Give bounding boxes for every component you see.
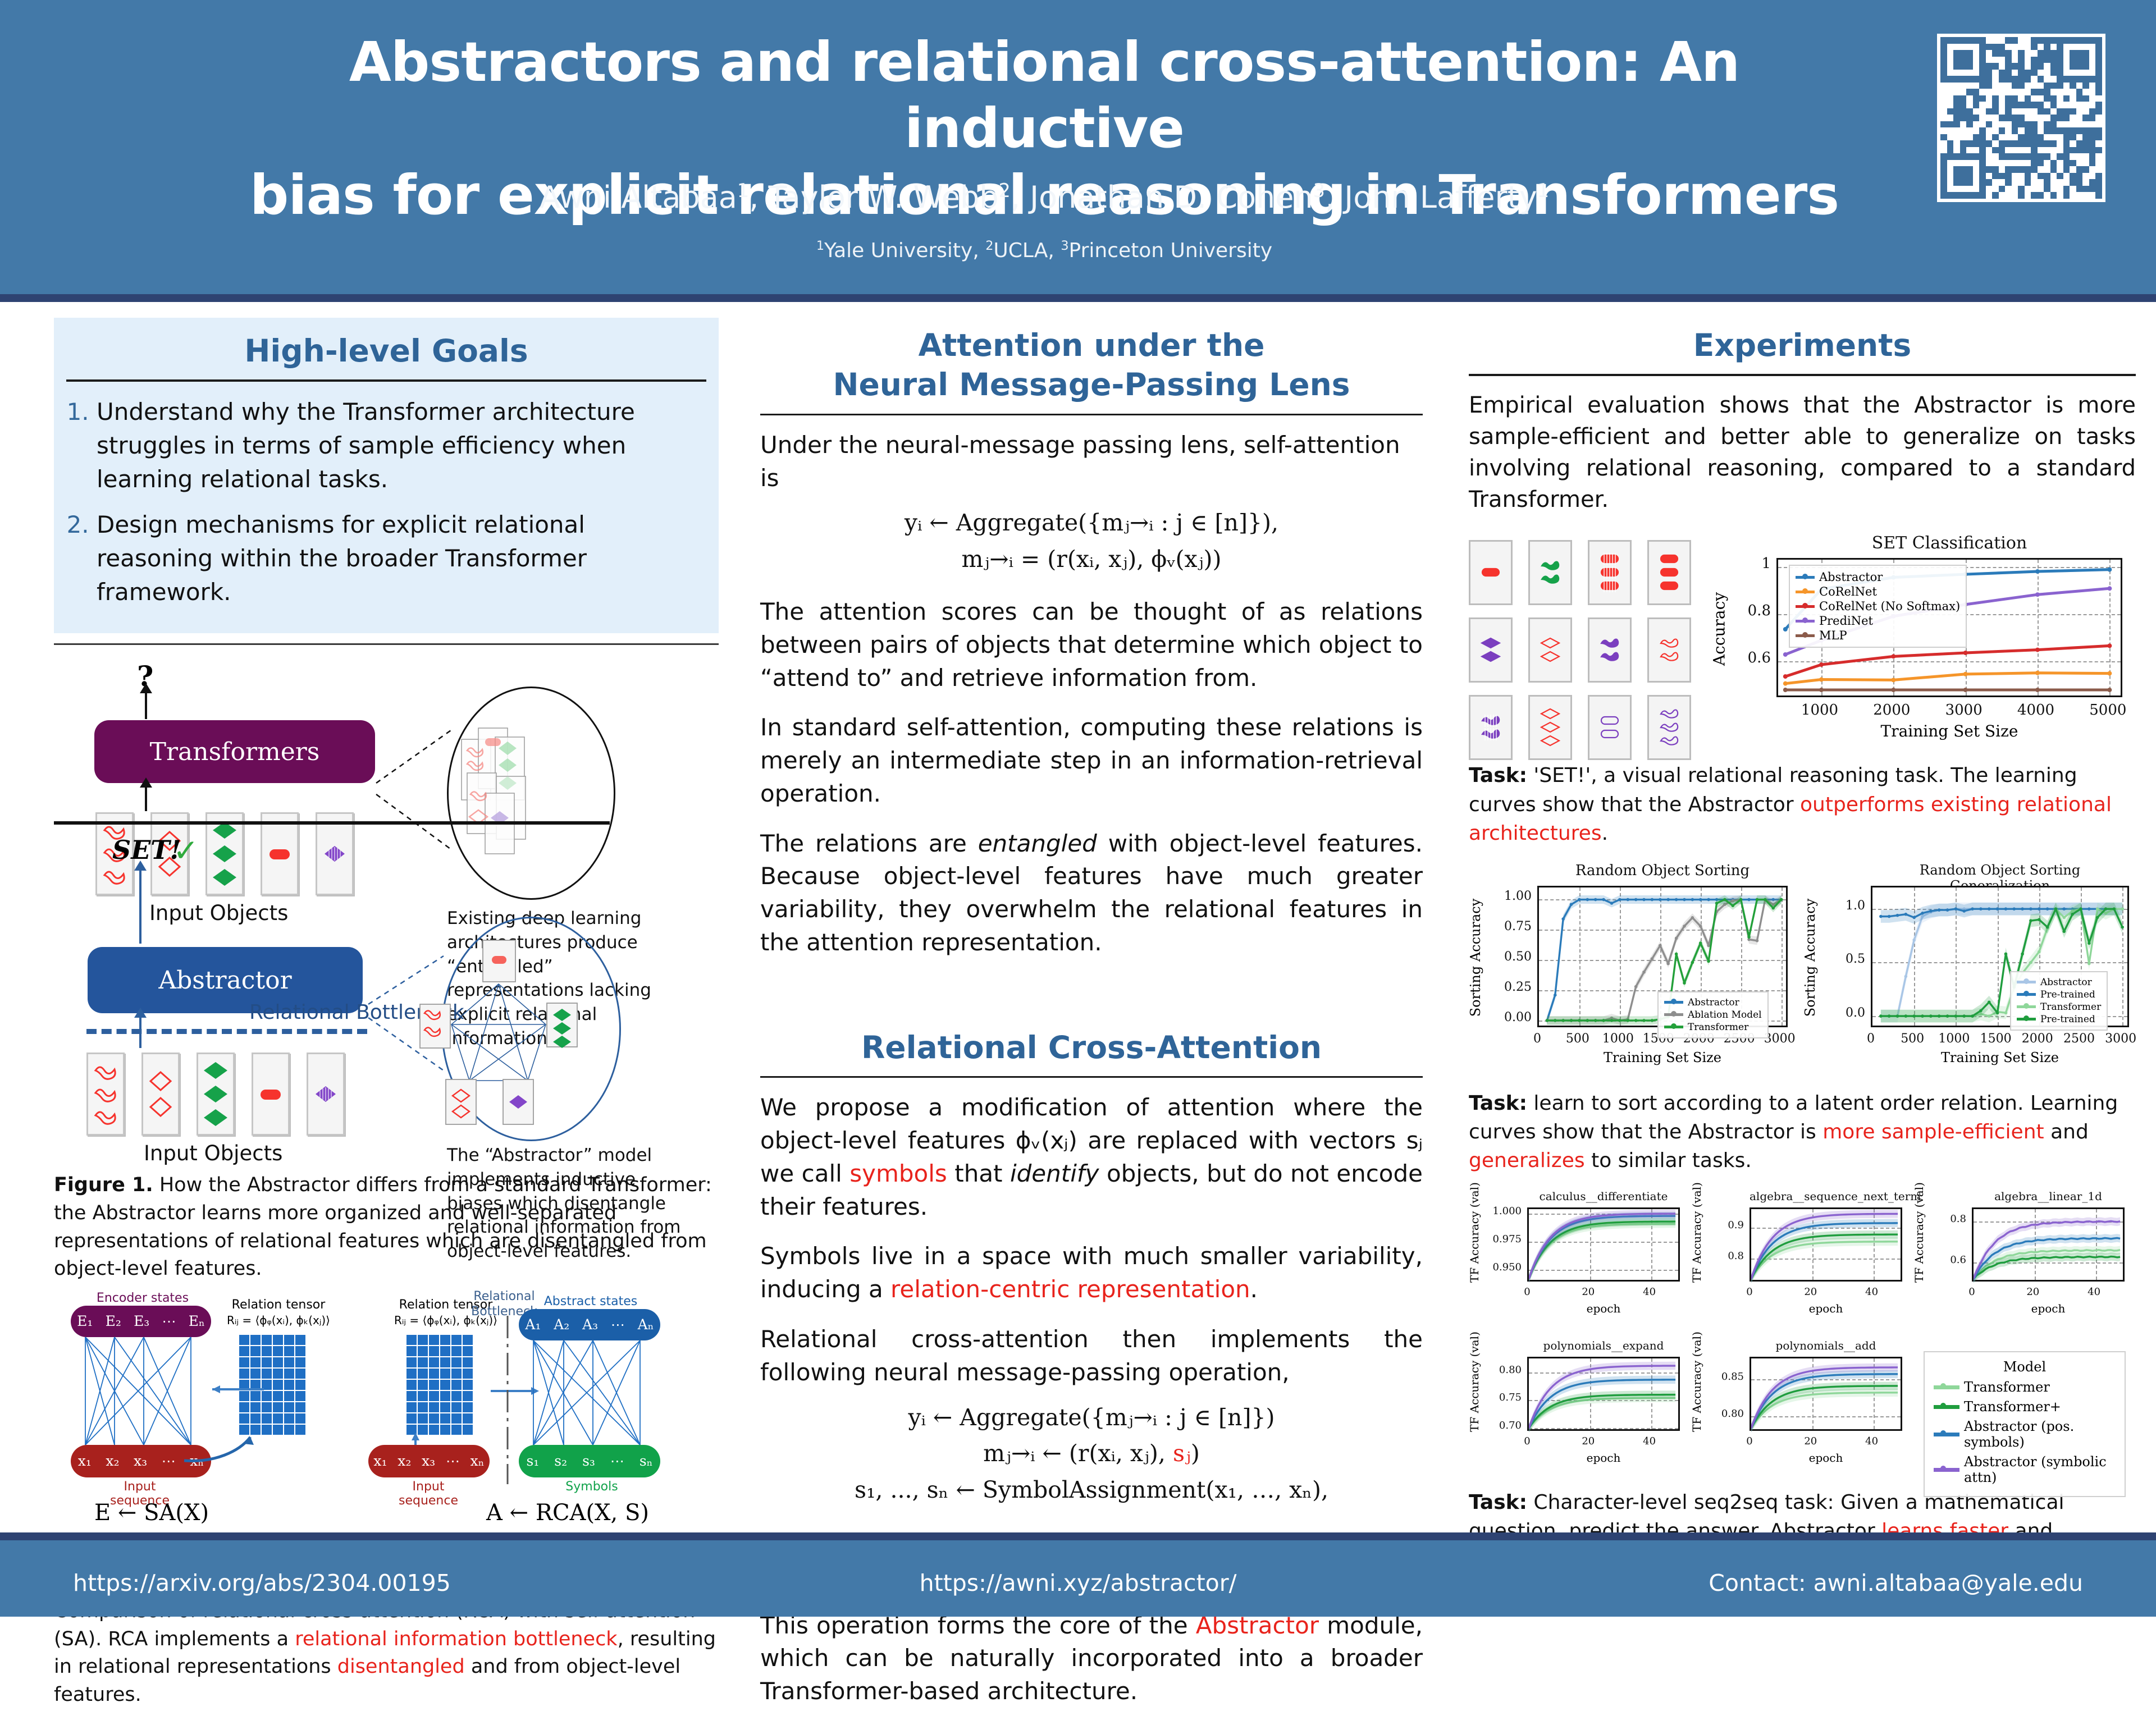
node-label: ⋯ [611,1316,625,1333]
legend-label: Transformer [1688,1022,1748,1033]
y-axis-label: TF Accuracy (val) [1912,1209,1926,1283]
x-axis-tick: 20 [1788,1435,1833,1447]
encoder-states-pill: E₁ E₂ E₃ ⋯ Eₙ [71,1306,211,1337]
chart-legend: AbstractorPre-trainedTransformerPre-trai… [2010,971,2108,1031]
series-layer [1529,1209,1682,1283]
middle-column: Attention under the Neural Message-Passi… [760,318,1423,1725]
left-column: High-level Goals Understand why the Tran… [54,318,719,1709]
input-card [307,1053,345,1136]
task-1-caption: Task: 'SET!', a visual relational reason… [1469,761,2136,847]
legend-swatch [1664,1026,1683,1028]
rca-equation: A ← RCA(X, S) [486,1500,649,1526]
attention-edges [519,1339,660,1446]
node-label: xₙ [471,1453,485,1469]
chart-random-object-sorting-generalization: Random Object Sorting Generalization0.00… [1803,861,2136,1086]
legend-entry: PrediNet [1796,614,1960,628]
poster-footer: https://arxiv.org/abs/2304.00195 https:/… [0,1532,2156,1617]
legend-entry: Abstractor (pos. symbols) [1934,1419,2116,1450]
chart-legend: AbstractorAblation ModelTransformer [1657,991,1769,1038]
x-axis-tick: 40 [1849,1286,1894,1298]
legend-entry: Abstractor [1664,997,1762,1008]
legend-entry: Pre-trained [2017,989,2101,1000]
title-line-1: Abstractors and relational cross-attenti… [202,29,1886,162]
divider [66,379,706,382]
x-axis-label: epoch [1750,1302,1902,1315]
chart-title: polynomials__add [1750,1339,1902,1352]
legend-label: Transformer [1964,1379,2050,1395]
arrow-left-icon [201,1381,268,1398]
legend-entry: MLP [1796,629,1960,642]
plot-area [1750,1357,1902,1431]
input-card [252,1053,290,1136]
x-axis-tick: 20 [1788,1286,1833,1298]
y-axis-label: Sorting Accuracy [1468,887,1483,1028]
x-axis-tick: 40 [2072,1286,2117,1298]
node-label: Eₙ [189,1313,205,1329]
input-objects-label: Input Objects [144,1141,282,1165]
x-axis-label: epoch [1527,1302,1680,1315]
plot-area [1527,1357,1680,1431]
divider [54,821,610,825]
legend-label: CoRelNet [1819,585,1877,598]
x-axis-tick: 1000 [1596,1032,1641,1046]
legend-entry: Abstractor (symbolic attn) [1934,1454,2116,1485]
set-card [1588,540,1632,605]
equation-line: mⱼ→ᵢ = (r(xᵢ, xⱼ), ϕᵥ(xⱼ)) [760,541,1423,578]
node-label: s₃ [582,1453,595,1469]
x-axis-tick: 2500 [2057,1032,2102,1046]
qr-code-icon[interactable] [1937,34,2105,202]
set-card [1469,540,1513,605]
rca-paragraph-2: Symbols live in a space with much smalle… [760,1240,1423,1306]
divider [54,643,719,645]
legend-swatch [2017,1005,2036,1008]
legend-swatch [1664,1013,1683,1016]
node-label: x₁ [373,1453,387,1469]
node-label: x₃ [422,1453,435,1469]
node-label: E₃ [134,1313,149,1329]
legend-label: MLP [1819,629,1847,642]
relation-tensor-equation: Rᵢⱼ = ⟨ϕᵩ(xᵢ), ϕₖ(xⱼ)⟩ [212,1314,345,1327]
legend-entry: Pre-trained [2017,1014,2101,1025]
poster-header: Abstractors and relational cross-attenti… [0,0,2156,302]
legend-entry: CoRelNet (No Softmax) [1796,600,1960,613]
input-sequence-pill: x₁ x₂ x₃ ⋯ xₙ [368,1445,490,1477]
transformers-box: Transformers [94,720,375,783]
node-label: ⋯ [162,1313,176,1329]
nmp-paragraph-3: In standard self-attention, computing th… [760,711,1423,810]
caption-highlight: relational information bottleneck [295,1628,617,1650]
legend-swatch [2017,993,2036,996]
x-axis-tick: 0 [1505,1435,1550,1447]
input-objects-label: Input Objects [149,901,288,925]
list-item: Design mechanisms for explicit relationa… [97,508,706,608]
node-label: ⋯ [162,1453,176,1469]
chart-title: calculus__differentiate [1527,1189,1680,1203]
bottleneck-dashed-line [86,1029,367,1034]
chart-polynomials-add: polynomials__add0.800.8502040epochTF Acc… [1691,1338,1908,1478]
legend-entry: Transformer [1934,1379,2116,1395]
model-legend: ModelTransformerTransformer+Abstractor (… [1924,1351,2126,1497]
chart-polynomials-expand: polynomials__expand0.700.750.8002040epoc… [1469,1338,1685,1478]
x-axis-tick: 500 [1890,1032,1935,1046]
disentangled-cluster-graphic [362,923,631,1148]
nmp-equation-block: yᵢ ← Aggregate({mⱼ→ᵢ : j ∈ [n]}), mⱼ→ᵢ =… [760,505,1423,578]
rca-paragraph-1: We propose a modification of attention w… [760,1091,1423,1223]
legend-label: PrediNet [1819,614,1873,628]
legend-label: CoRelNet (No Softmax) [1819,600,1960,613]
legend-label: Pre-trained [2040,1014,2095,1025]
chart-title: algebra__sequence_next_term [1750,1189,1902,1203]
chart-set-classification: SET Classification0.60.81100020003000400… [1710,532,2131,751]
set-label: SET! [112,835,181,865]
high-level-goals-panel: High-level Goals Understand why the Tran… [54,318,719,633]
legend-label: Pre-trained [2040,989,2095,1000]
legend-swatch [1796,605,1815,608]
math-experiment-grid: calculus__differentiate0.9500.9751.00002… [1469,1188,2136,1486]
set-card [1647,695,1691,760]
x-axis-tick: 20 [1566,1286,1611,1298]
chart-algebra-linear-1d: algebra__linear_1d0.60.802040epochTF Acc… [1913,1188,2130,1329]
node-label: ⋯ [610,1453,624,1469]
x-axis-tick: 0 [1949,1286,1994,1298]
pill-icon [257,1083,284,1105]
rca-paragraph-5: This operation forms the core of the Abs… [760,1609,1423,1708]
website-link[interactable]: https://awni.xyz/abstractor/ [920,1570,1237,1596]
section-title-rca: Relational Cross-Attention [760,1020,1423,1076]
set-card [1528,695,1572,760]
symbols-pill: s₁ s₂ s₃ ⋯ sₙ [519,1445,660,1477]
chart-algebra-sequence-next-term: algebra__sequence_next_term0.80.902040ep… [1691,1188,1908,1329]
goals-list: Understand why the Transformer architect… [66,395,706,608]
node-label: x₂ [106,1453,119,1469]
pill-icon [266,843,293,865]
legend-entry: Transformer+ [1934,1399,2116,1415]
title-line: Attention under the [760,326,1423,365]
legend-swatch [1934,1405,1959,1409]
y-axis-label: TF Accuracy (val) [1468,1358,1481,1432]
equation-line: s₁, ..., sₙ ← SymbolAssignment(x₁, …, xₙ… [760,1472,1423,1508]
set-card [1528,540,1572,605]
x-axis-tick: 3000 [2098,1032,2143,1046]
legend-title: Model [1934,1359,2116,1375]
node-label: x₃ [134,1453,147,1469]
series-layer [1974,1209,2126,1283]
legend-entry: Transformer [2017,1001,2101,1013]
chart-title: Random Object Sorting [1537,862,1788,879]
legend-label: Abstractor [2040,977,2092,988]
affiliation-list: 1Yale University, 2UCLA, 3Princeton Univ… [202,239,1886,262]
rca-paragraph-3: Relational cross-attention then implemen… [760,1323,1423,1389]
legend-swatch [1934,1385,1959,1389]
x-axis-tick: 1000 [1931,1032,1976,1046]
input-card [141,1053,180,1136]
legend-swatch [1796,620,1815,623]
chart-calculus-differentiate: calculus__differentiate0.9500.9751.00002… [1469,1188,1685,1329]
diamond-icon [211,818,239,889]
legend-label: Abstractor (symbolic attn) [1964,1454,2116,1485]
plot-area [1527,1207,1680,1282]
divider [1469,374,2136,376]
x-axis-tick: 5000 [2085,702,2130,719]
x-axis-tick: 0 [1727,1286,1772,1298]
chart-title: algebra__linear_1d [1972,1189,2125,1203]
x-axis-tick: 0 [1848,1032,1893,1046]
x-axis-tick: 1000 [1797,702,1842,719]
legend-label: Transformer+ [1964,1399,2061,1415]
x-axis-tick: 40 [1627,1435,1672,1447]
chart-legend: AbstractorCoRelNetCoRelNet (No Softmax)P… [1789,565,1967,648]
legend-entry: Abstractor [2017,977,2101,988]
rca-equation-block: yᵢ ← Aggregate({mⱼ→ᵢ : j ∈ [n]}) mⱼ→ᵢ ← … [760,1399,1423,1508]
relation-tensor-label: Relation tensor [222,1298,335,1312]
legend-swatch [2017,1018,2036,1021]
check-icon: ✓ [173,832,199,868]
legend-entry: Ablation Model [1664,1009,1762,1021]
x-axis-tick: 40 [1849,1435,1894,1447]
abstract-states-label: Abstract states [535,1294,647,1308]
y-axis-label: TF Accuracy (val) [1690,1209,1703,1283]
abstract-states-pill: A₁ A₂ A₃ ⋯ Aₙ [519,1309,660,1340]
input-card [261,812,299,895]
arrow-up-icon [145,786,147,811]
input-card [316,812,354,895]
series-layer [1751,1358,1904,1433]
legend-entry: CoRelNet [1796,585,1960,598]
series-layer [1751,1209,1904,1283]
list-item: Understand why the Transformer architect… [97,395,706,496]
encoder-states-label: Encoder states [92,1291,193,1305]
entangled-cluster-graphic [368,710,615,890]
x-axis-label: Training Set Size [1871,1050,2129,1065]
set-card [1469,617,1513,683]
set-cards-grid [1469,540,1691,760]
x-axis-tick: 4000 [2013,702,2058,719]
caption-label: Figure 1. [54,1174,153,1196]
squiggle-icon [92,1060,119,1128]
y-axis-label: TF Accuracy (val) [1690,1358,1703,1432]
legend-label: Abstractor [1819,570,1883,584]
x-axis-tick: 0 [1505,1286,1550,1298]
node-label: A₁ [525,1316,541,1333]
input-card [205,812,244,895]
legend-entry: Transformer [1664,1022,1762,1033]
x-axis-label: epoch [1750,1451,1902,1465]
title-line: Neural Message-Passing Lens [760,365,1423,404]
node-label: x₂ [398,1453,411,1469]
legend-swatch [1664,1001,1683,1004]
node-label: E₂ [106,1313,121,1329]
x-axis-tick: 20 [1566,1435,1611,1447]
section-title-experiments: Experiments [1469,318,2136,374]
x-axis-label: epoch [1972,1302,2125,1315]
set-card [1528,617,1572,683]
diamond-icon [312,1083,339,1105]
equation-line: mⱼ→ᵢ ← (r(xᵢ, xⱼ), sⱼ) [760,1435,1423,1472]
plot-area [1750,1207,1902,1282]
set-card [1469,695,1513,760]
y-axis-label: Sorting Accuracy [1802,887,1818,1028]
input-card [197,1053,235,1136]
diamond-icon [147,1063,174,1125]
legend-swatch [1796,591,1815,593]
sorting-experiment-row: Random Object Sorting0.000.250.500.751.0… [1469,861,2136,1086]
series-layer [1529,1358,1682,1433]
input-card [86,1053,125,1136]
author-list: Awni Altabaa1, Taylor W. Webb2, Jonathan… [202,180,1886,215]
legend-label: Ablation Model [1688,1009,1762,1021]
legend-label: Abstractor [1688,997,1739,1008]
x-axis-tick: 2000 [1869,702,1914,719]
legend-swatch [2017,981,2036,983]
chart-title: SET Classification [1776,533,2122,553]
caption-highlight: disentangled [337,1655,465,1678]
section-title-goals: High-level Goals [66,321,706,379]
nmp-paragraph-1: Under the neural-message passing lens, s… [760,429,1423,495]
x-axis-label: Training Set Size [1776,722,2122,740]
x-axis-tick: 20 [2011,1286,2055,1298]
node-label: Aₙ [638,1316,654,1333]
section-title-nmp: Attention under the Neural Message-Passi… [760,318,1423,414]
set-card [1588,617,1632,683]
equation-line: yᵢ ← Aggregate({mⱼ→ᵢ : j ∈ [n]}) [760,1399,1423,1436]
set-card [1647,617,1691,683]
x-axis-tick: 2000 [2015,1032,2060,1046]
chart-random-object-sorting: Random Object Sorting0.000.250.500.751.0… [1469,861,1794,1086]
experiments-intro: Empirical evaluation shows that the Abst… [1469,390,2136,515]
y-axis-label: Accuracy [1710,560,1729,699]
node-label: A₃ [582,1316,598,1333]
divider [760,1076,1423,1078]
right-column: Experiments Empirical evaluation shows t… [1469,318,2136,1574]
node-label: s₁ [526,1453,539,1469]
x-axis-tick: 1500 [1974,1032,2018,1046]
legend-swatch [1934,1468,1959,1472]
divider [760,414,1423,415]
equation-line: yᵢ ← Aggregate({mⱼ→ᵢ : j ∈ [n]}), [760,505,1423,541]
arxiv-link[interactable]: https://arxiv.org/abs/2304.00195 [73,1570,451,1596]
contact-email[interactable]: Contact: awni.altabaa@yale.edu [1709,1570,2083,1596]
plot-area [1972,1207,2125,1282]
poster-root: Abstractors and relational cross-attenti… [0,0,2156,1617]
node-label: x₁ [78,1453,92,1469]
nmp-paragraph-4: The relations are entangled with object-… [760,827,1423,959]
sa-equation: E ← SA(X) [94,1500,209,1526]
x-axis-tick: 40 [1627,1286,1672,1298]
x-axis-tick: 500 [1555,1032,1600,1046]
x-axis-tick: 0 [1727,1435,1772,1447]
y-axis-label: TF Accuracy (val) [1468,1209,1481,1283]
symbols-label: Symbols [558,1480,625,1494]
set-card [1588,695,1632,760]
nmp-paragraph-2: The attention scores can be thought of a… [760,596,1423,694]
chart-title: polynomials__expand [1527,1339,1680,1352]
diamond-icon [321,843,348,865]
task-2-caption: Task: learn to sort according to a laten… [1469,1089,2136,1175]
note-abstractor: The “Abstractor” model implements induct… [447,1143,694,1264]
legend-entry: Abstractor [1796,570,1960,584]
set-card [1647,540,1691,605]
figure-1-diagram: ? Transformers [54,660,719,1159]
node-label: A₂ [554,1316,569,1333]
input-sequence-label: Input sequence [386,1480,471,1508]
legend-swatch [1796,634,1815,637]
x-axis-label: Training Set Size [1537,1050,1788,1065]
node-label: E₁ [77,1313,93,1329]
legend-label: Transformer [2040,1001,2101,1013]
legend-swatch [1796,576,1815,579]
diamond-icon [202,1059,230,1129]
legend-swatch [1934,1433,1959,1436]
x-axis-tick: 3000 [1942,702,1986,719]
curved-arrow-icon [181,1429,259,1468]
x-axis-label: epoch [1527,1451,1680,1465]
node-label: s₂ [554,1453,567,1469]
node-label: sₙ [640,1453,653,1469]
relation-tensor-matrix [406,1335,473,1435]
x-axis-tick: 0 [1515,1032,1560,1046]
bottleneck-divider [504,1316,511,1484]
set-experiment-row: SET Classification0.60.81100020003000400… [1469,532,2136,751]
arrow-up-icon [145,692,147,719]
arrow-up-icon [139,870,141,944]
node-label: ⋯ [446,1453,460,1469]
legend-label: Abstractor (pos. symbols) [1964,1419,2116,1450]
